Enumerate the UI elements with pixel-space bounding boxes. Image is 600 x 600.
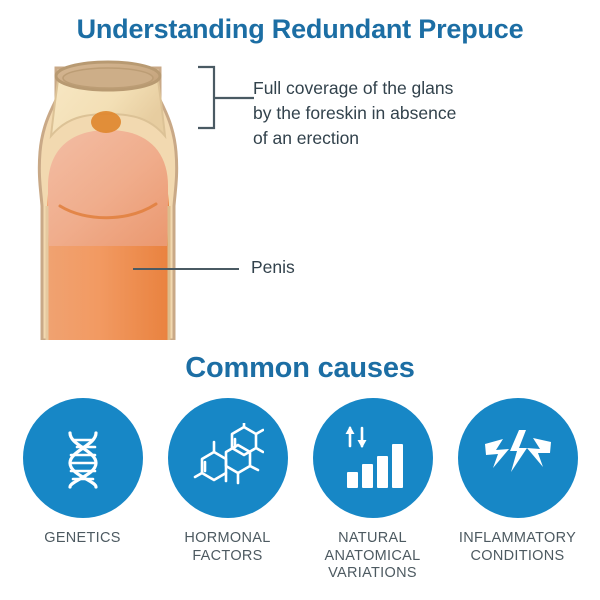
steroid-molecule-icon [192,423,264,493]
cause-label-inflammatory-conditions: INFLAMMATORY CONDITIONS [459,530,576,565]
lightning-bolt-center [510,430,527,472]
common-causes-heading: Common causes [0,352,600,385]
bar-4 [392,444,403,488]
penis-label: Penis [251,257,295,278]
callout-bracket [196,64,256,134]
cause-label-natural-anatomical-variations: NATURAL ANATOMICAL VARIATIONS [325,530,421,583]
lightning-bolt-left [485,439,509,468]
cause-circle-hormonal-factors[interactable] [168,398,288,518]
callout-line-3: of an erection [253,126,553,151]
pain-lightning-icon [483,428,553,488]
penis-leader-line [133,268,239,270]
cause-item-genetics[interactable]: GENETICS [21,398,145,548]
anatomy-illustration [28,56,188,340]
glans-dome [48,130,168,246]
cause-circle-natural-anatomical-variations[interactable] [313,398,433,518]
cause-circle-genetics[interactable] [23,398,143,518]
cause-item-inflammatory-conditions[interactable]: INFLAMMATORY CONDITIONS [456,398,580,565]
callout-line-1: Full coverage of the glans [253,76,553,101]
lightning-bolt-right [527,438,551,467]
bracket-path [198,67,214,128]
dna-helix-icon [50,425,116,491]
callout-bracket-svg [196,64,256,134]
bar-3 [377,456,388,488]
page-title: Understanding Redundant Prepuce [0,14,600,45]
cause-circle-inflammatory-conditions[interactable] [458,398,578,518]
anatomy-illustration-svg [28,56,188,340]
cause-label-hormonal-factors: HORMONAL FACTORS [184,530,270,565]
bar-2 [362,464,373,488]
meatus-spot [91,111,121,133]
callout-text: Full coverage of the glans by the foresk… [253,76,553,151]
bar-chart-arrows-icon [339,424,407,492]
cause-item-hormonal-factors[interactable]: HORMONAL FACTORS [166,398,290,565]
causes-list: GENETICS [0,398,600,583]
bar-1 [347,472,358,488]
cause-item-natural-anatomical-variations[interactable]: NATURAL ANATOMICAL VARIATIONS [311,398,435,583]
cause-label-genetics: GENETICS [44,530,121,548]
preputial-opening-inner [63,68,153,88]
callout-line-2: by the foreskin in absence [253,101,553,126]
